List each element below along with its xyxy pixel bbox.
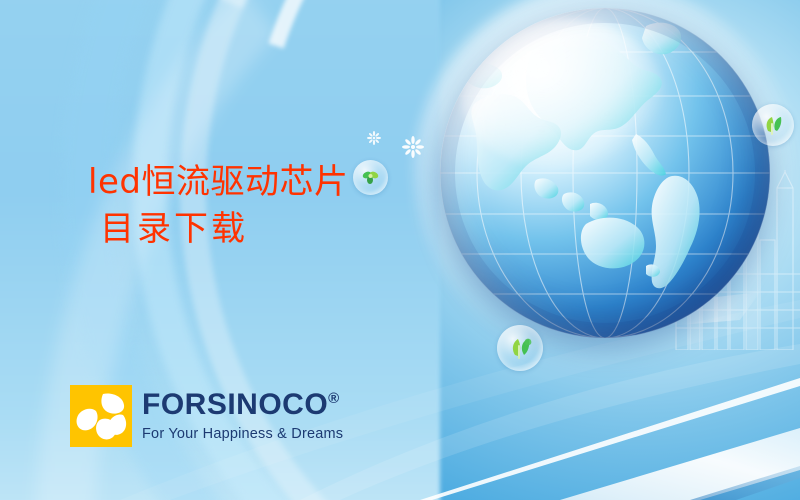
globe-sphere [440, 8, 770, 338]
headline-line-2: 目录下载 [100, 209, 348, 250]
globe-rim [440, 8, 770, 338]
logo-wordmark: FORSINOCO® For Your Happiness & Dreams [142, 390, 343, 442]
brand-logo: FORSINOCO® For Your Happiness & Dreams [70, 385, 343, 447]
flower-sparkle-icon [402, 136, 424, 158]
bubble-green-leaf [497, 325, 543, 371]
green-leaf-icon [497, 325, 543, 371]
four-petal-pinwheel-flower-icon [70, 385, 132, 447]
banner-canvas: led恒流驱动芯片 目录下载 FORSINOCO® For Your Happi… [0, 0, 800, 500]
registered-trademark-icon: ® [328, 390, 339, 407]
bubble-green-pinwheel [353, 160, 388, 195]
brand-name: FORSINOCO® [142, 390, 343, 420]
headline-line-1: led恒流驱动芯片 [88, 162, 348, 203]
green-pinwheel-icon [353, 160, 388, 195]
bubble-edge-right [752, 104, 794, 146]
brand-name-text: FORSINOCO [142, 388, 328, 421]
pinwheel-petals [70, 385, 132, 447]
flower-sparkle-small-icon [367, 131, 381, 145]
headline-text: led恒流驱动芯片 目录下载 [88, 162, 348, 251]
green-leaf-small-icon [752, 104, 794, 146]
earth-globe-icon [440, 8, 770, 338]
brand-tagline: For Your Happiness & Dreams [142, 427, 343, 442]
